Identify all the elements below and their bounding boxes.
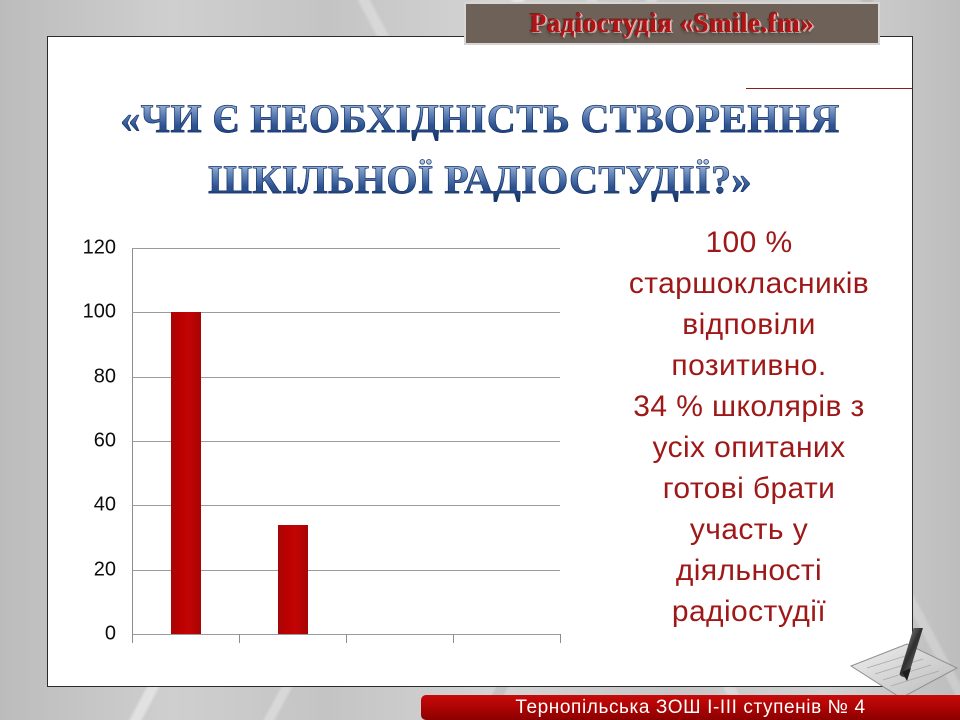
banner-divider-rule [746, 88, 912, 89]
y-axis-tick-label: 120 [83, 237, 116, 260]
bar[interactable] [278, 525, 308, 634]
x-axis-tick [239, 634, 240, 643]
x-axis-tick [346, 634, 347, 643]
summary-text-line: участь у [584, 509, 914, 550]
y-axis-tick-label: 20 [94, 558, 116, 581]
summary-text-line: 34 % школярів з [584, 386, 914, 427]
notebook-pen-image [845, 628, 960, 703]
notebook-pen-icon [845, 628, 960, 703]
summary-text-line: діяльності [584, 550, 914, 591]
y-axis-tick-label: 100 [83, 301, 116, 324]
y-axis-tick-label: 60 [94, 430, 116, 453]
summary-text-line: радіостудії [584, 591, 914, 632]
summary-text-line: старшокласників [584, 263, 914, 304]
bar[interactable] [171, 312, 201, 634]
summary-text-line: позитивно. [584, 345, 914, 386]
footer-school-name: Тернопільська ЗОШ I-III ступенів № 4 [515, 697, 865, 719]
summary-text: 100 %старшокласниківвідповілипозитивно.3… [584, 222, 914, 632]
gridline [132, 248, 560, 249]
y-axis-tick-label: 40 [94, 494, 116, 517]
y-axis: 020406080100120 [56, 232, 124, 632]
y-axis-tick-label: 0 [105, 623, 116, 646]
y-axis-tick-label: 80 [94, 365, 116, 388]
summary-text-line: 100 % [584, 222, 914, 263]
bar-chart: 020406080100120 [56, 232, 576, 652]
x-axis-tick [132, 634, 133, 643]
x-axis-tick [560, 634, 561, 643]
summary-text-line: усіх опитаних [584, 427, 914, 468]
footer-bar: Тернопільська ЗОШ I-III ступенів № 4 [421, 695, 960, 720]
plot-area [132, 248, 560, 634]
top-banner: Радіостудія «Smile.fm» [464, 2, 880, 45]
summary-text-line: відповіли [584, 304, 914, 345]
summary-text-line: готові брати [584, 468, 914, 509]
x-axis-tick [453, 634, 454, 643]
top-banner-title: Радіостудія «Smile.fm» [530, 8, 815, 39]
